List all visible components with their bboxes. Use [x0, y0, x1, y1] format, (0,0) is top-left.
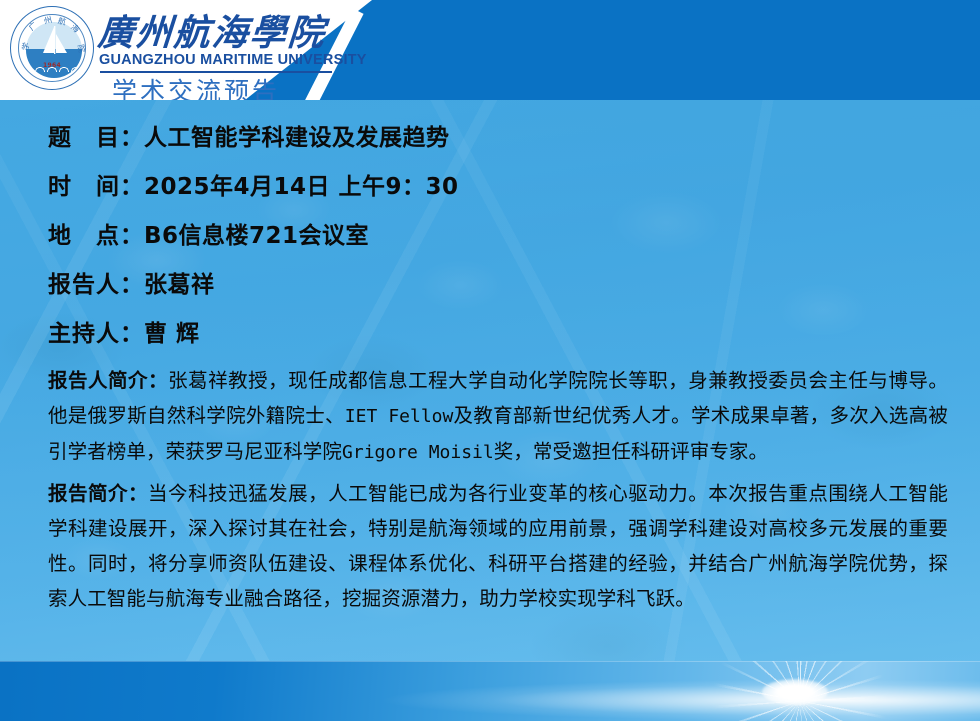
detail-row-speaker: 报告人：张葛祥 — [48, 265, 962, 299]
detail-row-location: 地 点：B6信息楼721会议室 — [48, 216, 962, 250]
footer-top-edge — [0, 661, 980, 662]
emblem-inner-ring: 1964 — [18, 14, 86, 82]
poster-root: 1964 广 州 航 海 学 院 廣州航海學院 GUANGZHOU MARITI… — [0, 0, 980, 721]
detail-label: 题 目： — [48, 125, 144, 151]
poster-subtitle: 学术交流预告 — [112, 72, 280, 100]
speaker-bio-label: 报告人简介： — [48, 369, 168, 392]
emblem-year: 1964 — [19, 62, 85, 69]
poster-header: 1964 广 州 航 海 学 院 廣州航海學院 GUANGZHOU MARITI… — [0, 0, 980, 100]
poster-content: 题 目：人工智能学科建设及发展趋势 时 间：2025年4月14日 上午9：30 … — [0, 100, 980, 660]
detail-label: 时 间： — [48, 174, 144, 200]
abstract-label: 报告简介： — [48, 482, 148, 505]
detail-value: B6信息楼721会议室 — [144, 223, 369, 249]
light-burst-core-icon — [762, 679, 828, 705]
detail-value: 张葛祥 — [144, 272, 215, 298]
sailboat-seal-emblem: 1964 广 州 航 海 学 院 — [10, 6, 94, 90]
speaker-bio-text-3: 奖，常受邀担任科研评审专家。 — [494, 440, 768, 463]
speaker-bio-paragraph: 报告人简介：张葛祥教授，现任成都信息工程大学自动化学院院长等职，身兼教授委员会主… — [48, 363, 948, 470]
detail-row-title: 题 目：人工智能学科建设及发展趋势 — [48, 118, 962, 152]
footer-light-band — [0, 661, 980, 721]
sailboat-icon — [19, 15, 86, 82]
detail-value: 人工智能学科建设及发展趋势 — [144, 125, 450, 151]
speaker-bio-mono-2: Grigore Moisil — [342, 442, 494, 463]
abstract-paragraph: 报告简介：当今科技迅猛发展，人工智能已成为各行业变革的核心驱动力。本次报告重点围… — [48, 476, 948, 616]
detail-label: 地 点： — [48, 223, 144, 249]
detail-row-host: 主持人：曹 辉 — [48, 314, 962, 348]
footer-light-sweep — [0, 669, 980, 721]
detail-row-time: 时 间：2025年4月14日 上午9：30 — [48, 167, 962, 201]
detail-label: 主持人： — [48, 321, 144, 347]
abstract-text: 当今科技迅猛发展，人工智能已成为各行业变革的核心驱动力。本次报告重点围绕人工智能… — [48, 482, 948, 610]
detail-label: 报告人： — [48, 272, 144, 298]
detail-value: 2025年4月14日 上午9：30 — [144, 174, 459, 200]
university-name-en: GUANGZHOU MARITIME UNIVERSITY — [99, 52, 367, 68]
university-name-cn: 廣州航海學院 — [96, 4, 328, 56]
speaker-bio-mono-1: IET Fellow — [345, 406, 454, 427]
detail-value: 曹 辉 — [144, 321, 200, 347]
